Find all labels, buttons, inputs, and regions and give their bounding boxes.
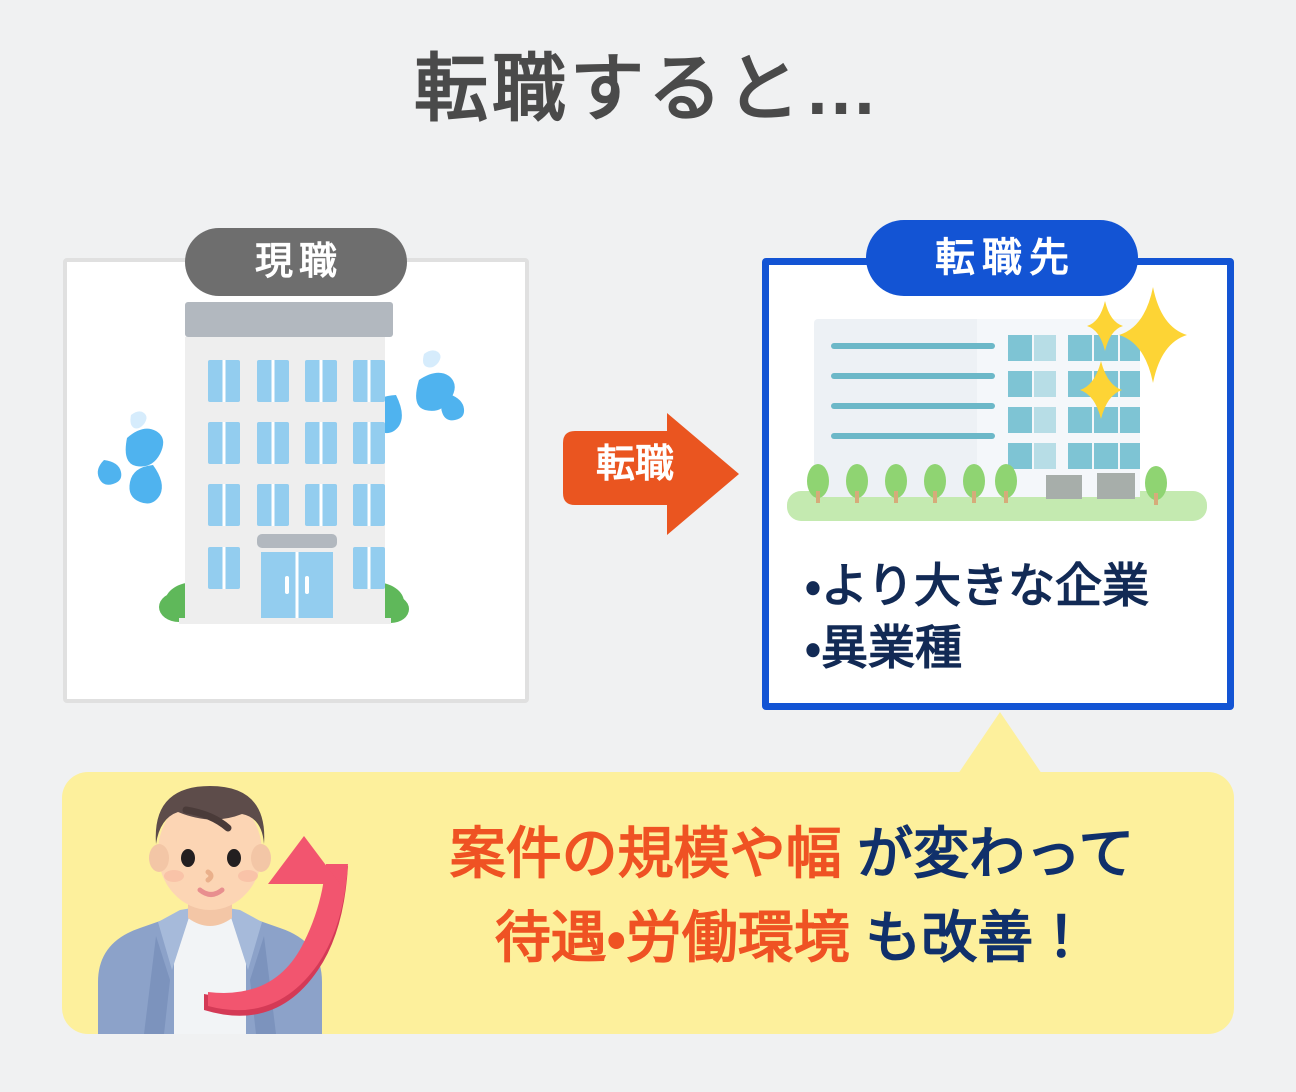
current-job-badge: 現職: [185, 228, 407, 296]
small-office-building-illustration: [67, 262, 525, 699]
comparison-row: ・より大きな企業 ・異業種 現職 転職先 転職: [0, 228, 1296, 718]
summary-line-1-rest: が変わって: [842, 822, 1135, 885]
businessman-illustration: [90, 778, 390, 1034]
page-title: 転職すると…: [0, 52, 1296, 126]
summary-line-2: 待遇・労働環境 も改善！: [362, 896, 1222, 980]
large-corporate-building-illustration: [781, 283, 1221, 533]
benefit-item: ・より大きな企業: [805, 555, 1225, 617]
target-job-benefits-list: ・より大きな企業 ・異業種: [805, 555, 1225, 679]
summary-line-2-highlight: 待遇・労働環境: [495, 906, 850, 969]
summary-text: 案件の規模や幅 が変わって 待遇・労働環境 も改善！: [362, 812, 1222, 980]
target-job-badge: 転職先: [866, 220, 1138, 296]
sweat-drops-left: [98, 411, 163, 503]
callout-pointer: [958, 712, 1042, 774]
summary-line-1-highlight: 案件の規模や幅: [450, 822, 842, 885]
summary-callout: 案件の規模や幅 が変わって 待遇・労働環境 も改善！: [62, 772, 1234, 1034]
benefit-item: ・異業種: [805, 617, 1225, 679]
current-job-card: [63, 258, 529, 703]
transition-arrow: 転職: [563, 413, 739, 535]
arrow-right-icon: [563, 413, 739, 535]
summary-line-1: 案件の規模や幅 が変わって: [362, 812, 1222, 896]
summary-line-2-rest: も改善！: [850, 906, 1090, 969]
target-job-card: ・より大きな企業 ・異業種: [762, 258, 1234, 710]
